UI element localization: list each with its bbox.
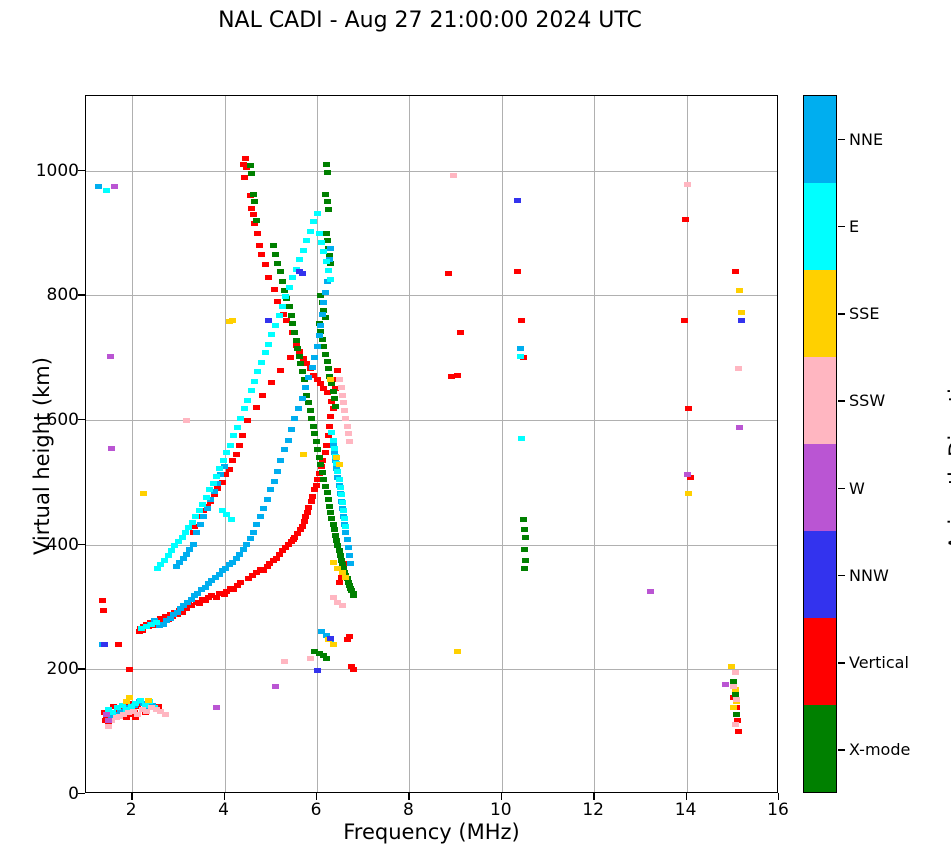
echo-point-w bbox=[213, 705, 220, 710]
echo-point-x-mode bbox=[253, 218, 260, 223]
echo-point-e bbox=[268, 332, 275, 337]
echo-point-e bbox=[185, 525, 192, 530]
echo-point-vertical bbox=[213, 595, 220, 600]
echo-point-nne bbox=[267, 487, 274, 492]
echo-point-x-mode bbox=[323, 656, 330, 661]
echo-point-vertical bbox=[682, 217, 689, 222]
echo-point-vertical bbox=[256, 243, 263, 248]
echo-point-nne bbox=[264, 497, 271, 502]
echo-point-nne bbox=[180, 556, 187, 561]
echo-point-x-mode bbox=[328, 516, 335, 521]
gridline-horizontal bbox=[86, 669, 777, 670]
echo-point-vertical bbox=[248, 206, 255, 211]
colorbar-label-sse: SSE bbox=[849, 304, 879, 323]
echo-point-x-mode bbox=[522, 535, 529, 540]
echo-point-e bbox=[314, 211, 321, 216]
echo-point-e bbox=[334, 469, 341, 474]
echo-point-e bbox=[244, 398, 251, 403]
echo-point-x-mode bbox=[279, 279, 286, 284]
y-tick-label: 400 bbox=[19, 535, 79, 555]
colorbar-tick bbox=[838, 575, 845, 576]
echo-point-e bbox=[171, 543, 178, 548]
echo-point-sse bbox=[123, 699, 130, 704]
echo-point-vertical bbox=[265, 275, 272, 280]
echo-point-e bbox=[199, 502, 206, 507]
echo-point-w bbox=[108, 446, 115, 451]
colorbar-segment-nnw bbox=[804, 531, 836, 618]
y-tick-label: 0 bbox=[19, 784, 79, 804]
echo-point-e bbox=[325, 268, 332, 273]
echo-point-vertical bbox=[313, 483, 320, 488]
echo-point-x-mode bbox=[323, 162, 330, 167]
echo-point-nne bbox=[517, 346, 524, 351]
echo-point-e bbox=[227, 443, 234, 448]
echo-point-e bbox=[330, 438, 337, 443]
echo-point-e bbox=[307, 229, 314, 234]
echo-point-x-mode bbox=[326, 504, 333, 509]
echo-point-x-mode bbox=[248, 171, 255, 176]
colorbar-segment-sse bbox=[804, 270, 836, 357]
colorbar-tick bbox=[838, 226, 845, 227]
y-tick-mark bbox=[78, 544, 85, 545]
echo-point-nne bbox=[316, 333, 323, 338]
colorbar-tick bbox=[838, 749, 845, 750]
echo-point-nne bbox=[240, 547, 247, 552]
echo-point-sse bbox=[454, 649, 461, 654]
echo-point-ssw bbox=[307, 656, 314, 661]
echo-point-x-mode bbox=[274, 261, 281, 266]
echo-point-nne bbox=[173, 564, 180, 569]
echo-point-x-mode bbox=[319, 470, 326, 475]
echo-point-x-mode bbox=[294, 346, 301, 351]
echo-point-x-mode bbox=[322, 352, 329, 357]
colorbar-label-x-mode: X-mode bbox=[849, 740, 910, 759]
echo-point-vertical bbox=[271, 287, 278, 292]
echo-point-vertical bbox=[233, 452, 240, 457]
echo-point-vertical bbox=[518, 318, 525, 323]
echo-point-e bbox=[316, 231, 323, 236]
echo-point-sse bbox=[336, 462, 343, 467]
echo-point-vertical bbox=[305, 505, 312, 510]
echo-point-nne bbox=[274, 469, 281, 474]
echo-point-vertical bbox=[309, 494, 316, 499]
echo-point-nnw bbox=[101, 642, 108, 647]
y-tick-label: 200 bbox=[19, 659, 79, 679]
echo-point-ssw bbox=[735, 366, 742, 371]
echo-point-vertical bbox=[322, 450, 329, 455]
echo-point-e bbox=[272, 323, 279, 328]
echo-point-ssw bbox=[733, 697, 740, 702]
colorbar-label-ssw: SSW bbox=[849, 391, 885, 410]
echo-point-x-mode bbox=[332, 533, 339, 538]
echo-point-nne bbox=[95, 184, 102, 189]
echo-point-x-mode bbox=[310, 424, 317, 429]
echo-point-ssw bbox=[730, 684, 737, 689]
colorbar-tick bbox=[838, 400, 845, 401]
echo-point-ssw bbox=[339, 603, 346, 608]
echo-point-x-mode bbox=[328, 381, 335, 386]
echo-point-vertical bbox=[273, 556, 280, 561]
echo-point-vertical bbox=[304, 510, 311, 515]
x-tick-mark bbox=[501, 793, 502, 800]
echo-point-e bbox=[318, 240, 325, 245]
echo-point-nne bbox=[319, 312, 326, 317]
echo-point-sse bbox=[140, 491, 147, 496]
echo-point-x-mode bbox=[250, 192, 257, 197]
echo-point-vertical bbox=[334, 368, 341, 373]
echo-point-nnw bbox=[314, 668, 321, 673]
echo-point-vertical bbox=[100, 608, 107, 613]
echo-point-vertical bbox=[327, 414, 334, 419]
x-tick-label: 14 bbox=[666, 800, 706, 820]
echo-point-e bbox=[300, 248, 307, 253]
echo-point-sse bbox=[685, 491, 692, 496]
echo-point-vertical bbox=[445, 271, 452, 276]
x-tick-mark bbox=[408, 793, 409, 800]
gridline-horizontal bbox=[86, 295, 777, 296]
echo-point-vertical bbox=[299, 524, 306, 529]
echo-point-sse bbox=[728, 664, 735, 669]
plot-title: NAL CADI - Aug 27 21:00:00 2024 UTC bbox=[0, 8, 860, 33]
colorbar-segment-e bbox=[804, 183, 836, 270]
echo-point-x-mode bbox=[270, 243, 277, 248]
echo-point-e bbox=[341, 516, 348, 521]
echo-point-e bbox=[189, 520, 196, 525]
y-tick-label: 600 bbox=[19, 410, 79, 430]
echo-point-e bbox=[323, 259, 330, 264]
echo-point-vertical bbox=[326, 424, 333, 429]
echo-point-x-mode bbox=[308, 416, 315, 421]
echo-point-nne bbox=[322, 290, 329, 295]
echo-point-nne bbox=[197, 522, 204, 527]
echo-point-ssw bbox=[340, 400, 347, 405]
echo-point-vertical bbox=[230, 587, 237, 592]
colorbar-tick bbox=[838, 313, 845, 314]
echo-point-vertical bbox=[346, 634, 353, 639]
echo-point-vertical bbox=[259, 393, 266, 398]
x-tick-mark bbox=[593, 793, 594, 800]
echo-point-x-mode bbox=[331, 527, 338, 532]
echo-point-vertical bbox=[250, 212, 257, 217]
y-tick-label: 800 bbox=[19, 285, 79, 305]
echo-point-e bbox=[103, 188, 110, 193]
echo-point-nnw bbox=[265, 318, 272, 323]
echo-point-e bbox=[276, 313, 283, 318]
y-tick-mark bbox=[78, 793, 85, 794]
echo-point-sse bbox=[300, 452, 307, 457]
x-tick-mark bbox=[224, 793, 225, 800]
echo-point-e bbox=[175, 539, 182, 544]
echo-point-nne bbox=[277, 458, 284, 463]
echo-point-x-mode bbox=[331, 396, 338, 401]
echo-point-e bbox=[234, 425, 241, 430]
echo-point-w bbox=[107, 354, 114, 359]
echo-point-e bbox=[254, 369, 261, 374]
x-tick-label: 2 bbox=[111, 800, 151, 820]
echo-point-x-mode bbox=[289, 321, 296, 326]
echo-point-e bbox=[279, 304, 286, 309]
echo-point-e bbox=[338, 492, 345, 497]
echo-point-e bbox=[213, 474, 220, 479]
echo-point-ssw bbox=[105, 724, 112, 729]
echo-point-x-mode bbox=[325, 497, 332, 502]
echo-point-x-mode bbox=[288, 313, 295, 318]
echo-point-e bbox=[241, 406, 248, 411]
echo-point-x-mode bbox=[327, 510, 334, 515]
echo-point-nnw bbox=[299, 271, 306, 276]
echo-point-w bbox=[111, 184, 118, 189]
x-tick-mark bbox=[686, 793, 687, 800]
echo-point-sse bbox=[330, 560, 337, 565]
echo-point-sse bbox=[342, 575, 349, 580]
echo-point-vertical bbox=[287, 355, 294, 360]
echo-point-nne bbox=[295, 406, 302, 411]
gridline-vertical bbox=[687, 96, 688, 792]
echo-point-vertical bbox=[681, 318, 688, 323]
echo-point-e bbox=[303, 238, 310, 243]
echo-point-nne bbox=[347, 561, 354, 566]
echo-point-e bbox=[220, 458, 227, 463]
echo-point-x-mode bbox=[305, 400, 312, 405]
colorbar-segment-ssw bbox=[804, 357, 836, 444]
colorbar-tick bbox=[838, 139, 845, 140]
echo-point-ssw bbox=[732, 722, 739, 727]
echo-point-ssw bbox=[134, 712, 141, 717]
gridline-vertical bbox=[132, 96, 133, 792]
echo-point-x-mode bbox=[521, 547, 528, 552]
y-tick-mark bbox=[78, 170, 85, 171]
echo-point-e bbox=[210, 481, 217, 486]
y-tick-mark bbox=[78, 668, 85, 669]
echo-point-e bbox=[203, 495, 210, 500]
colorbar-label-nne: NNE bbox=[849, 130, 883, 149]
echo-point-e bbox=[331, 446, 338, 451]
colorbar-label-w: W bbox=[849, 479, 865, 498]
echo-point-e bbox=[518, 436, 525, 441]
echo-point-vertical bbox=[254, 231, 261, 236]
echo-point-nne bbox=[345, 545, 352, 550]
echo-point-vertical bbox=[241, 175, 248, 180]
echo-point-e bbox=[282, 294, 289, 299]
echo-point-vertical bbox=[229, 458, 236, 463]
echo-point-e bbox=[165, 553, 172, 558]
gridline-vertical bbox=[502, 96, 503, 792]
echo-point-e bbox=[262, 350, 269, 355]
echo-point-nne bbox=[260, 506, 267, 511]
echo-point-x-mode bbox=[350, 593, 357, 598]
echo-point-ssw bbox=[162, 712, 169, 717]
echo-point-w bbox=[684, 472, 691, 477]
echo-point-ssw bbox=[339, 393, 346, 398]
echo-point-ssw bbox=[341, 408, 348, 413]
echo-point-x-mode bbox=[521, 566, 528, 571]
echo-point-nne bbox=[236, 552, 243, 557]
echo-point-w bbox=[105, 718, 112, 723]
echo-point-e bbox=[286, 285, 293, 290]
echo-point-x-mode bbox=[296, 354, 303, 359]
echo-point-e bbox=[517, 354, 524, 359]
echo-point-vertical bbox=[115, 642, 122, 647]
ionogram-plot-area[interactable] bbox=[85, 95, 778, 793]
echo-point-nnw bbox=[327, 636, 334, 641]
echo-point-sse bbox=[738, 310, 745, 315]
echo-point-e bbox=[310, 219, 317, 224]
echo-point-w bbox=[103, 712, 110, 717]
echo-point-vertical bbox=[126, 667, 133, 672]
echo-point-vertical bbox=[260, 568, 267, 573]
x-tick-label: 6 bbox=[296, 800, 336, 820]
echo-point-nne bbox=[299, 396, 306, 401]
echo-point-e bbox=[153, 620, 160, 625]
echo-point-sse bbox=[736, 288, 743, 293]
echo-point-x-mode bbox=[322, 484, 329, 489]
gridline-vertical bbox=[409, 96, 410, 792]
echo-point-vertical bbox=[514, 269, 521, 274]
echo-point-x-mode bbox=[320, 344, 327, 349]
echo-point-vertical bbox=[268, 380, 275, 385]
echo-point-x-mode bbox=[299, 369, 306, 374]
echo-point-e bbox=[337, 485, 344, 490]
echo-point-vertical bbox=[457, 330, 464, 335]
echo-point-x-mode bbox=[286, 304, 293, 309]
echo-point-vertical bbox=[685, 406, 692, 411]
echo-point-e bbox=[248, 388, 255, 393]
echo-point-w bbox=[647, 589, 654, 594]
echo-point-vertical bbox=[311, 487, 318, 492]
echo-point-e bbox=[251, 379, 258, 384]
echo-point-e bbox=[320, 249, 327, 254]
echo-point-nne bbox=[200, 514, 207, 519]
echo-point-nne bbox=[314, 344, 321, 349]
echo-point-x-mode bbox=[324, 359, 331, 364]
echo-point-vertical bbox=[350, 667, 357, 672]
echo-point-e bbox=[237, 416, 244, 421]
echo-point-e bbox=[157, 562, 164, 567]
echo-point-e bbox=[328, 430, 335, 435]
echo-point-e bbox=[196, 508, 203, 513]
echo-point-e bbox=[230, 433, 237, 438]
echo-point-ssw bbox=[450, 173, 457, 178]
colorbar-segment-w bbox=[804, 444, 836, 531]
echo-point-nne bbox=[204, 506, 211, 511]
echo-point-nne bbox=[193, 530, 200, 535]
colorbar-segment-nne bbox=[804, 96, 836, 183]
echo-point-x-mode bbox=[324, 199, 331, 204]
echo-point-vertical bbox=[258, 252, 265, 257]
echo-point-e bbox=[216, 466, 223, 471]
echo-point-x-mode bbox=[521, 527, 528, 532]
echo-point-nne bbox=[320, 300, 327, 305]
echo-point-x-mode bbox=[314, 447, 321, 452]
echo-point-sse bbox=[330, 642, 337, 647]
echo-point-e bbox=[228, 517, 235, 522]
echo-point-w bbox=[272, 684, 279, 689]
echo-point-vertical bbox=[262, 262, 269, 267]
echo-point-x-mode bbox=[297, 361, 304, 366]
colorbar-tick bbox=[838, 488, 845, 489]
y-tick-mark bbox=[78, 419, 85, 420]
colorbar-title: Azimuth Direction bbox=[945, 156, 951, 756]
echo-point-e bbox=[289, 275, 296, 280]
x-tick-mark bbox=[778, 793, 779, 800]
x-tick-label: 12 bbox=[573, 800, 613, 820]
echo-point-nne bbox=[271, 479, 278, 484]
echo-point-x-mode bbox=[325, 366, 332, 371]
echo-point-x-mode bbox=[322, 192, 329, 197]
echo-point-x-mode bbox=[324, 170, 331, 175]
echo-point-e bbox=[339, 500, 346, 505]
echo-point-vertical bbox=[244, 418, 251, 423]
echo-point-ssw bbox=[732, 670, 739, 675]
echo-point-sse bbox=[730, 705, 737, 710]
echo-point-x-mode bbox=[291, 330, 298, 335]
echo-point-vertical bbox=[242, 156, 249, 161]
echo-point-ssw bbox=[345, 431, 352, 436]
echo-point-nne bbox=[190, 542, 197, 547]
echo-point-nne bbox=[233, 556, 240, 561]
echo-point-nne bbox=[309, 365, 316, 370]
echo-point-ssw bbox=[346, 439, 353, 444]
colorbar-segment-x-mode bbox=[804, 705, 836, 792]
echo-point-nne bbox=[291, 416, 298, 421]
echo-point-nne bbox=[247, 536, 254, 541]
echo-point-nne bbox=[288, 427, 295, 432]
echo-point-e bbox=[168, 548, 175, 553]
echo-point-x-mode bbox=[317, 462, 324, 467]
echo-point-sse bbox=[229, 318, 236, 323]
echo-point-x-mode bbox=[320, 477, 327, 482]
gridline-horizontal bbox=[86, 171, 777, 172]
echo-point-nnw bbox=[738, 318, 745, 323]
echo-point-e bbox=[265, 342, 272, 347]
echo-point-nne bbox=[327, 246, 334, 251]
echo-point-sse bbox=[327, 377, 334, 382]
echo-point-e bbox=[161, 558, 168, 563]
colorbar-label-nnw: NNW bbox=[849, 566, 889, 585]
echo-point-nne bbox=[257, 514, 264, 519]
echo-point-nne bbox=[346, 553, 353, 558]
echo-point-vertical bbox=[277, 368, 284, 373]
echo-point-ssw bbox=[338, 385, 345, 390]
gridline-vertical bbox=[225, 96, 226, 792]
colorbar[interactable] bbox=[803, 95, 837, 793]
echo-point-vertical bbox=[236, 443, 243, 448]
echo-point-e bbox=[206, 487, 213, 492]
echo-point-x-mode bbox=[316, 455, 323, 460]
echo-point-nnw bbox=[514, 198, 521, 203]
echo-point-nne bbox=[183, 552, 190, 557]
echo-point-ssw bbox=[281, 659, 288, 664]
echo-point-e bbox=[258, 360, 265, 365]
echo-point-vertical bbox=[239, 433, 246, 438]
echo-point-vertical bbox=[336, 580, 343, 585]
echo-point-ssw bbox=[336, 377, 343, 382]
echo-point-nne bbox=[311, 355, 318, 360]
echo-point-e bbox=[223, 450, 230, 455]
echo-point-nne bbox=[243, 542, 250, 547]
echo-point-e bbox=[192, 514, 199, 519]
echo-point-vertical bbox=[253, 405, 260, 410]
echo-point-e bbox=[182, 530, 189, 535]
echo-point-e bbox=[336, 477, 343, 482]
echo-point-vertical bbox=[294, 531, 301, 536]
echo-point-ssw bbox=[344, 424, 351, 429]
echo-point-vertical bbox=[732, 269, 739, 274]
echo-point-x-mode bbox=[277, 269, 284, 274]
echo-point-x-mode bbox=[323, 231, 330, 236]
echo-point-vertical bbox=[308, 499, 315, 504]
echo-point-e bbox=[296, 257, 303, 262]
